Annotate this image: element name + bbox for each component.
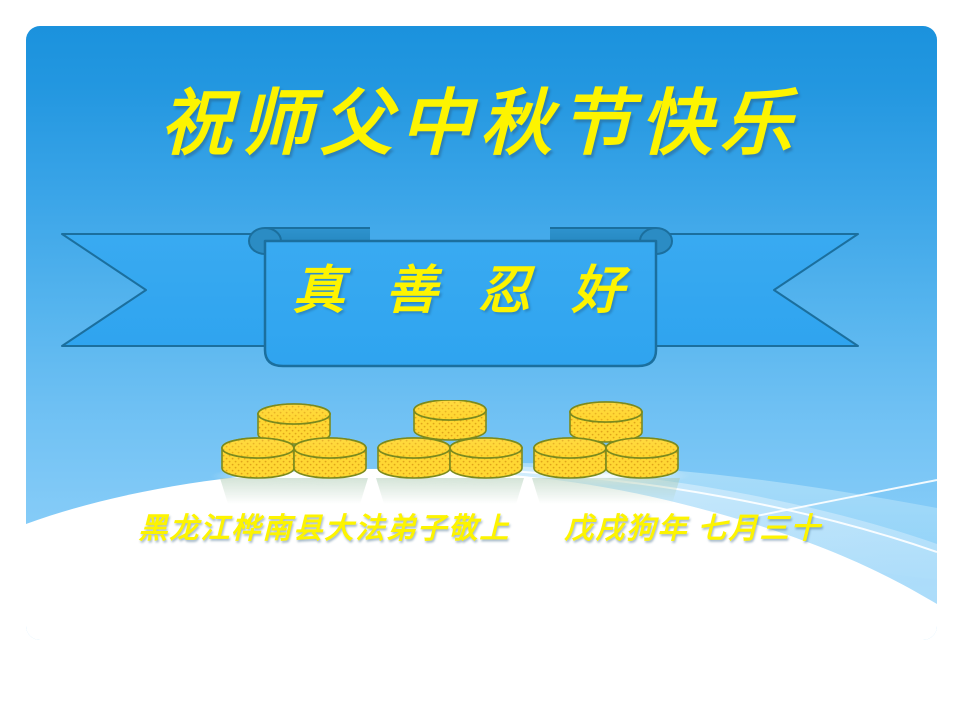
- page-title: 祝师父中秋节快乐: [0, 88, 960, 160]
- signature-line: 黑龙江桦南县大法弟子敬上戊戌狗年 七月三十: [0, 512, 960, 547]
- slide-canvas: 祝师父中秋节快乐: [0, 0, 960, 720]
- ribbon-banner: 真 善 忍 好: [60, 218, 860, 370]
- ribbon-banner-text: 真 善 忍 好: [265, 266, 665, 318]
- mooncake-illustration: [200, 400, 700, 515]
- signature-right-text: 戊戌狗年 七月三十: [564, 513, 821, 545]
- signature-left-text: 黑龙江桦南县大法弟子敬上: [138, 513, 510, 545]
- mooncake-stacks-icon: [200, 400, 700, 515]
